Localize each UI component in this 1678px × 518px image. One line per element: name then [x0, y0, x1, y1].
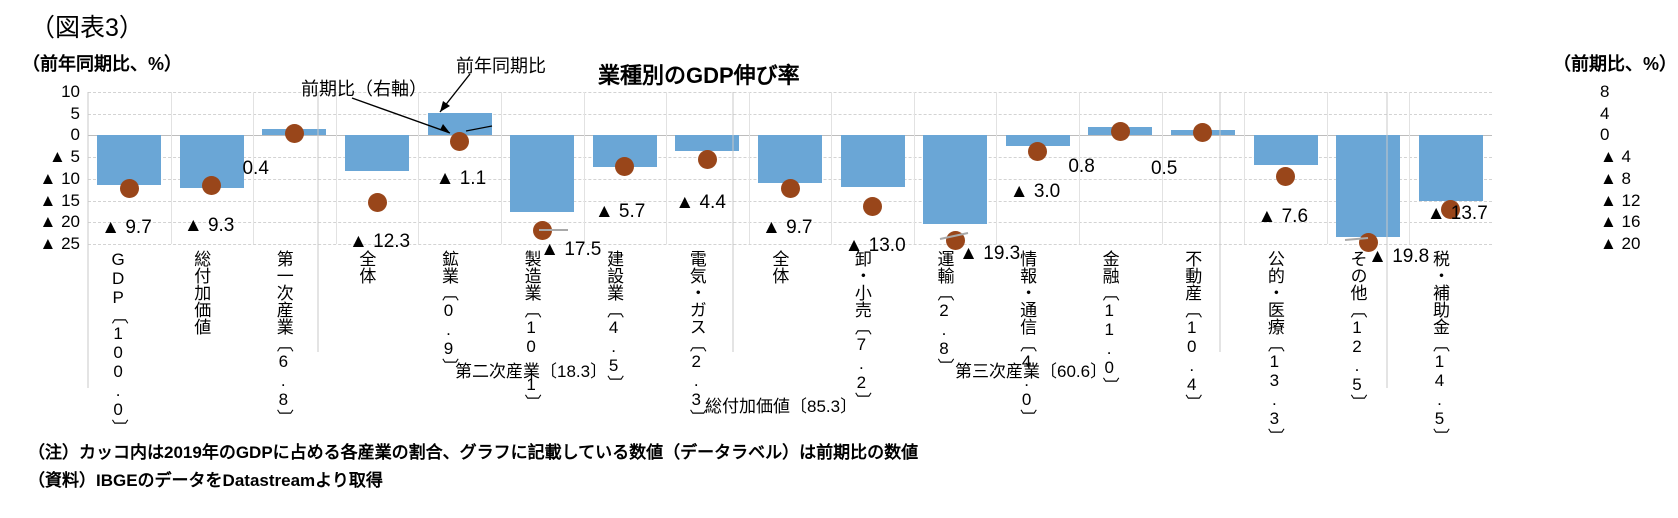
gridline — [88, 201, 1492, 202]
category-label-3: 全体 — [357, 250, 374, 284]
left-axis-tick: ▲ 10 — [0, 170, 80, 187]
category-label-share: 〔2.3〕 — [687, 335, 706, 426]
slot-separator — [418, 92, 419, 244]
data-label-14: ▲ 7.6 — [1258, 207, 1309, 226]
footnote-source: （資料）IBGEのデータをDatastreamより取得 — [28, 466, 383, 491]
data-label-2: 0.4 — [242, 159, 268, 178]
left-axis-tick: ▲ 20 — [0, 213, 80, 230]
right-axis-tick: ▲ 16 — [1600, 213, 1640, 230]
category-label-5: 製造業〔10.1〕 — [522, 250, 539, 411]
bar-8 — [758, 135, 822, 183]
category-label-1: 総付加価値 — [192, 250, 209, 335]
category-label-name: 第一次産業 — [274, 250, 293, 335]
bar-9 — [841, 135, 905, 187]
slot-separator — [1409, 92, 1410, 244]
dot-9 — [863, 197, 882, 216]
category-label-share: 〔6.8〕 — [274, 335, 293, 426]
data-label-5: ▲ 17.5 — [540, 240, 601, 259]
category-label-name: 建設業 — [604, 250, 623, 301]
gridline — [88, 114, 1492, 115]
bar-0 — [97, 135, 161, 185]
bar-10 — [923, 135, 987, 223]
category-label-name: 運輸 — [935, 250, 954, 284]
right-axis-tick: 0 — [1600, 126, 1609, 143]
data-label-4: ▲ 1.1 — [436, 169, 487, 188]
category-label-name: 公的・医療 — [1265, 250, 1284, 335]
bar-14 — [1254, 135, 1318, 165]
category-label-11: 情報・通信〔4.0〕 — [1018, 250, 1035, 426]
category-label-2: 第一次産業〔6.8〕 — [274, 250, 291, 426]
data-label-16: ▲ 13.7 — [1427, 204, 1488, 223]
category-label-share: 〔2.8〕 — [935, 284, 954, 375]
category-label-name: 全体 — [356, 250, 375, 284]
figure-number: （図表3） — [30, 8, 144, 44]
slot-separator — [584, 92, 585, 244]
category-label-7: 電気・ガス〔2.3〕 — [687, 250, 704, 426]
data-label-13: 0.5 — [1151, 159, 1177, 178]
category-label-name: 総付加価値 — [191, 250, 210, 335]
bar-15 — [1336, 135, 1400, 236]
category-label-name: 製造業 — [522, 250, 541, 301]
page-title: 業種別のGDP伸び率 — [598, 58, 800, 90]
bar-16 — [1419, 135, 1483, 200]
category-label-10: 運輸〔2.8〕 — [935, 250, 952, 375]
category-label-name: GDP — [109, 250, 128, 307]
category-label-13: 不動産〔10.4〕 — [1183, 250, 1200, 411]
data-label-12: 0.8 — [1068, 157, 1094, 176]
data-label-7: ▲ 4.4 — [675, 193, 726, 212]
annotation-qoq-label: 前期比（右軸） — [301, 75, 427, 101]
category-label-9: 卸・小売〔7.2〕 — [853, 250, 870, 409]
category-label-0: GDP〔100.0〕 — [109, 250, 126, 436]
dot-3 — [368, 193, 387, 212]
slot-separator — [171, 92, 172, 244]
slot-separator — [1244, 92, 1245, 244]
left-axis-tick: ▲ 25 — [0, 235, 80, 252]
left-axis-tick: 0 — [0, 126, 80, 143]
group-label-secondary: 第二次産業〔18.3〕 — [455, 357, 607, 382]
category-label-name: その他 — [1347, 250, 1366, 301]
left-axis-tick: 5 — [0, 105, 80, 122]
dot-8 — [781, 179, 800, 198]
left-axis-tick: ▲ 15 — [0, 192, 80, 209]
slot-separator — [996, 92, 997, 244]
annotation-yoy-label: 前年同期比 — [456, 52, 546, 78]
category-label-name: 電気・ガス — [687, 250, 706, 335]
category-label-name: 情報・通信 — [1017, 250, 1036, 335]
data-label-15: ▲ 19.8 — [1368, 247, 1429, 266]
dot-4 — [450, 132, 469, 151]
left-axis-tick: 10 — [0, 83, 80, 100]
category-label-share: 〔14.5〕 — [1430, 335, 1449, 445]
category-label-name: 全体 — [769, 250, 788, 284]
footnote-note: （注）カッコ内は2019年のGDPに占める各産業の割合、グラフに記載している数値… — [28, 438, 918, 463]
category-label-15: その他〔12.5〕 — [1348, 250, 1365, 411]
dot-2 — [285, 124, 304, 143]
category-label-16: 税・補助金〔14.5〕 — [1431, 250, 1448, 445]
slot-separator — [914, 92, 915, 244]
right-axis-tick: ▲ 8 — [1600, 170, 1631, 187]
data-label-1: ▲ 9.3 — [184, 216, 235, 235]
data-label-0: ▲ 9.7 — [101, 218, 152, 237]
slot-separator — [749, 92, 750, 244]
data-label-3: ▲ 12.3 — [349, 232, 410, 251]
right-axis-tick: ▲ 12 — [1600, 192, 1640, 209]
left-axis-tick: ▲ 5 — [0, 148, 80, 165]
category-label-name: 不動産 — [1182, 250, 1201, 301]
category-label-share: 〔100.0〕 — [109, 307, 128, 436]
category-label-share: 〔10.4〕 — [1182, 301, 1201, 411]
category-label-name: 金融 — [1100, 250, 1119, 284]
data-label-8: ▲ 9.7 — [762, 218, 813, 237]
category-label-name: 卸・小売 — [852, 250, 871, 318]
category-label-14: 公的・医療〔13.3〕 — [1266, 250, 1283, 445]
category-label-8: 全体 — [770, 250, 787, 284]
slot-separator — [831, 92, 832, 244]
category-label-name: 税・補助金 — [1430, 250, 1449, 335]
bar-5 — [510, 135, 574, 212]
category-label-name: 鉱業 — [439, 250, 458, 284]
slot-separator — [666, 92, 667, 244]
slot-separator — [501, 92, 502, 244]
data-label-6: ▲ 5.7 — [595, 202, 646, 221]
category-label-share: 〔10.1〕 — [522, 301, 541, 411]
category-label-share: 〔12.5〕 — [1347, 301, 1366, 411]
category-label-share: 〔13.3〕 — [1265, 335, 1284, 445]
dot-12 — [1111, 122, 1130, 141]
right-axis-tick: ▲ 20 — [1600, 235, 1640, 252]
dot-0 — [120, 179, 139, 198]
right-axis-tick: 8 — [1600, 83, 1609, 100]
right-axis-tick: 4 — [1600, 105, 1609, 122]
left-axis-title: （前年同期比、%） — [22, 50, 182, 76]
right-axis-title: （前期比、%） — [1553, 50, 1677, 76]
chart-page: （図表3） （前年同期比、%） （前期比、%） 業種別のGDP伸び率 1050▲… — [0, 0, 1678, 518]
slot-separator — [336, 92, 337, 244]
dot-7 — [698, 150, 717, 169]
gridline — [88, 92, 1492, 93]
right-axis-tick: ▲ 4 — [1600, 148, 1631, 165]
gridline — [88, 244, 1492, 245]
data-label-11: ▲ 3.0 — [1010, 182, 1061, 201]
slot-separator — [1327, 92, 1328, 244]
data-label-10: ▲ 19.3 — [959, 244, 1020, 263]
dot-5 — [533, 221, 552, 240]
bar-3 — [345, 135, 409, 171]
group-label-tertiary: 第三次産業〔60.6〕 — [955, 357, 1107, 382]
group-label-gva: 総付加価値〔85.3〕 — [705, 392, 857, 417]
category-label-6: 建設業〔4.5〕 — [605, 250, 622, 392]
